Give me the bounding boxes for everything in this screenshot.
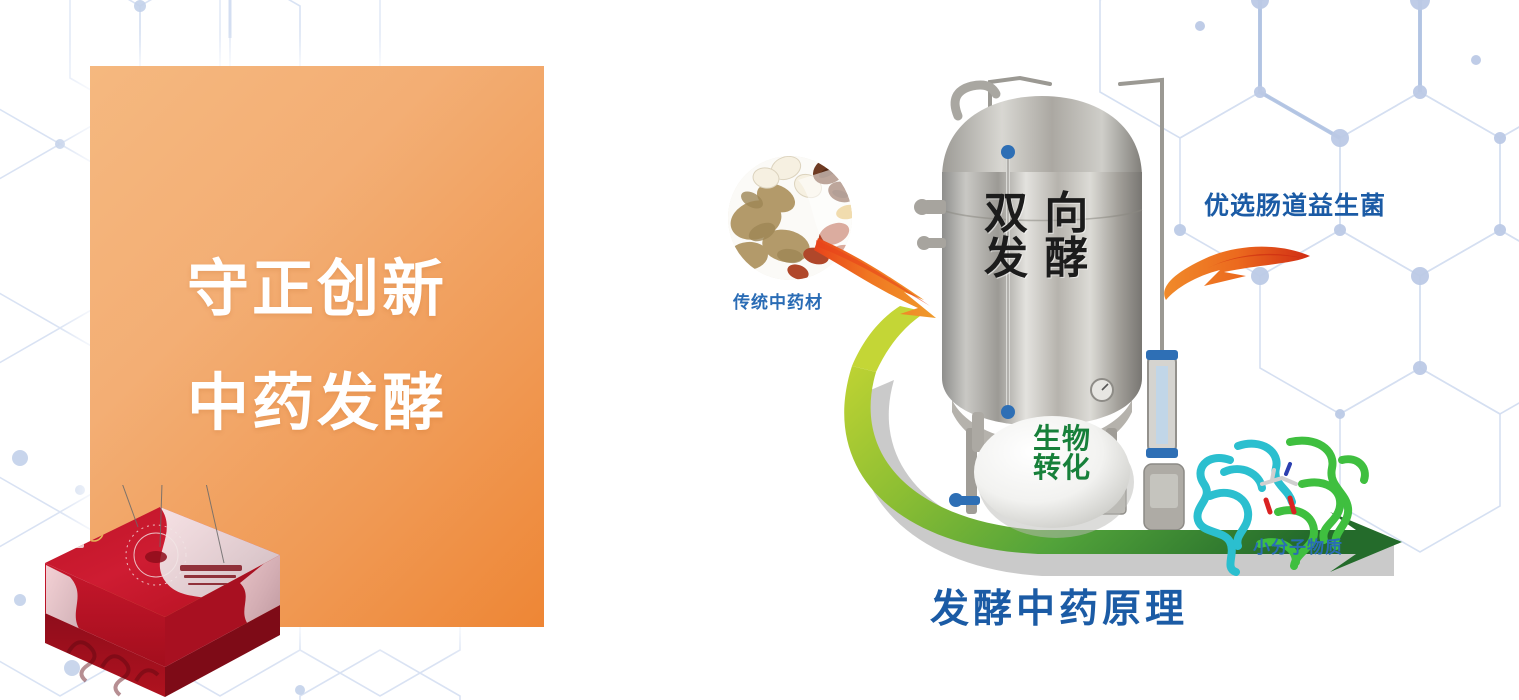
product-box-image	[10, 485, 320, 700]
label-gut-probiotics: 优选肠道益生菌	[1204, 186, 1386, 222]
bioconversion-line-2: 转化	[1008, 453, 1116, 482]
label-traditional-herbs: 传统中药材	[733, 288, 823, 313]
label-small-molecules: 小分子物质	[1253, 533, 1343, 558]
headline-line-1: 守正创新	[187, 259, 447, 321]
orange-arrow-icon-probiotic	[1164, 247, 1310, 300]
headline-line-2: 中药发酵	[187, 373, 447, 435]
banner-stage: 守正创新 中药发酵	[0, 0, 1519, 700]
tank-label-text: 双 向 发 酵	[984, 192, 1090, 282]
tank-label-line-2: 发 酵	[984, 237, 1090, 282]
fermentation-diagram	[690, 60, 1490, 660]
orange-arrow-icon-herbs	[814, 238, 936, 318]
diagram-title: 发酵中药原理	[930, 578, 1188, 634]
bioconversion-label: 生物 转化	[1008, 424, 1116, 483]
tank-label-line-1: 双 向	[984, 192, 1090, 237]
bioconversion-line-1: 生物	[1008, 424, 1116, 453]
